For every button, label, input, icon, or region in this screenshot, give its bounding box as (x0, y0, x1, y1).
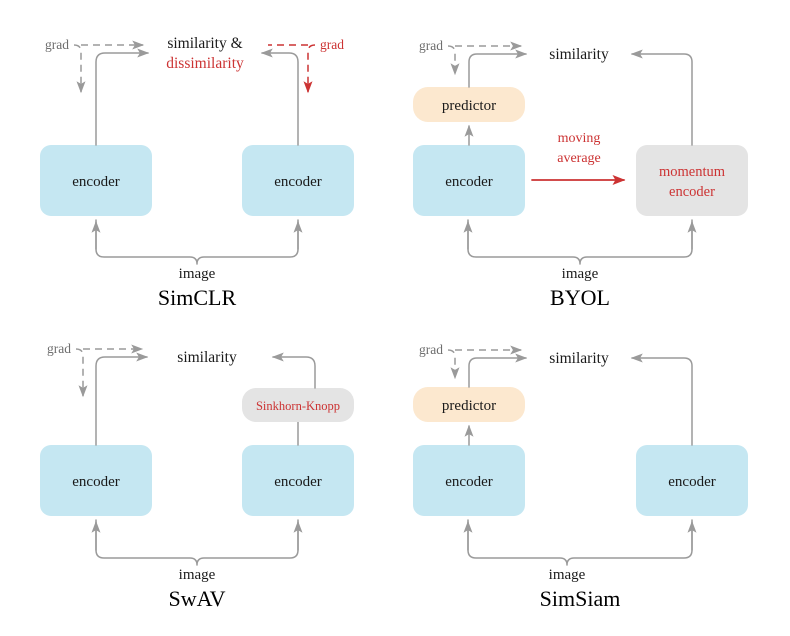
grad-arrow-left (74, 45, 143, 92)
image-bracket (96, 220, 298, 264)
byol-predictor-label: predictor (442, 98, 496, 114)
image-bracket (468, 220, 692, 264)
simsiam-predictor-box[interactable]: predictor (413, 387, 525, 422)
byol-encoder-box[interactable]: encoder (413, 145, 525, 216)
swav-right-encoder-label: encoder (274, 474, 321, 490)
panel-title-swav: SwAV (168, 586, 225, 611)
arrow-predictor-to-similarity (469, 54, 526, 87)
simclr-right-encoder-box[interactable]: encoder (242, 145, 354, 216)
swav-sinkhorn-knopp-box[interactable]: Sinkhorn-Knopp (242, 388, 354, 422)
simsiam-predictor-label: predictor (442, 398, 496, 414)
grad-label-left: grad (45, 37, 69, 52)
panel-simclr: image encoder encoder (0, 0, 395, 318)
simclr-right-encoder-label: encoder (274, 174, 321, 190)
grad-label-left: grad (419, 342, 443, 357)
image-label: image (179, 266, 216, 282)
byol-momentum-encoder-box[interactable]: momentum encoder (636, 145, 748, 216)
panel-title-byol: BYOL (550, 285, 610, 310)
objective-line1: similarity (549, 350, 609, 367)
swav-left-encoder-label: encoder (72, 474, 119, 490)
swav-sinkhorn-knopp-label: Sinkhorn-Knopp (256, 399, 340, 413)
moving-average-label-line2: average (557, 151, 601, 166)
grad-label-right: grad (320, 37, 344, 52)
objective-line1: similarity (549, 46, 609, 63)
arrow-left-encoder-to-similarity (96, 53, 148, 145)
objective-line1: similarity (177, 349, 237, 366)
grad-label-left: grad (47, 341, 71, 356)
image-label: image (562, 266, 599, 282)
arrow-right-encoder-to-similarity (262, 53, 298, 145)
byol-encoder-label: encoder (445, 174, 492, 190)
arrow-right-encoder-to-similarity (632, 358, 692, 445)
image-label: image (549, 567, 586, 583)
moving-average-label-line1: moving (558, 131, 601, 146)
arrow-left-encoder-to-similarity (96, 357, 147, 445)
swav-right-encoder-box[interactable]: encoder (242, 445, 354, 516)
grad-arrow-left (448, 350, 521, 378)
simsiam-left-encoder-box[interactable]: encoder (413, 445, 525, 516)
panel-byol: image encoder predictor momentum encoder (395, 0, 790, 318)
simclr-left-encoder-box[interactable]: encoder (40, 145, 152, 216)
simsiam-left-encoder-label: encoder (445, 474, 492, 490)
simclr-left-encoder-label: encoder (72, 174, 119, 190)
grad-arrow-left (448, 46, 521, 74)
grad-arrow-right (268, 45, 315, 92)
grad-label-left: grad (419, 38, 443, 53)
image-bracket (96, 520, 298, 565)
swav-left-encoder-box[interactable]: encoder (40, 445, 152, 516)
image-bracket (468, 520, 692, 565)
panel-swav: image encoder encoder Sinkhorn-Knopp (0, 318, 395, 636)
arrow-momentum-encoder-to-similarity (632, 54, 692, 145)
panel-title-simclr: SimCLR (158, 285, 237, 310)
byol-predictor-box[interactable]: predictor (413, 87, 525, 122)
simsiam-right-encoder-box[interactable]: encoder (636, 445, 748, 516)
panel-title-simsiam: SimSiam (540, 586, 621, 611)
simsiam-right-encoder-label: encoder (668, 474, 715, 490)
byol-momentum-encoder-label-line1: momentum (659, 164, 726, 180)
arrow-predictor-to-similarity (469, 358, 526, 387)
arrow-sinkhorn-to-similarity (273, 357, 315, 388)
objective-line1: similarity & (167, 35, 242, 52)
byol-momentum-encoder-label-line2: encoder (669, 184, 715, 200)
figure-canvas: image encoder encoder (0, 0, 790, 636)
panel-simsiam: image encoder predictor encoder (395, 318, 790, 636)
objective-line2: dissimilarity (166, 55, 244, 72)
grad-arrow-left (76, 349, 142, 396)
image-label: image (179, 567, 216, 583)
